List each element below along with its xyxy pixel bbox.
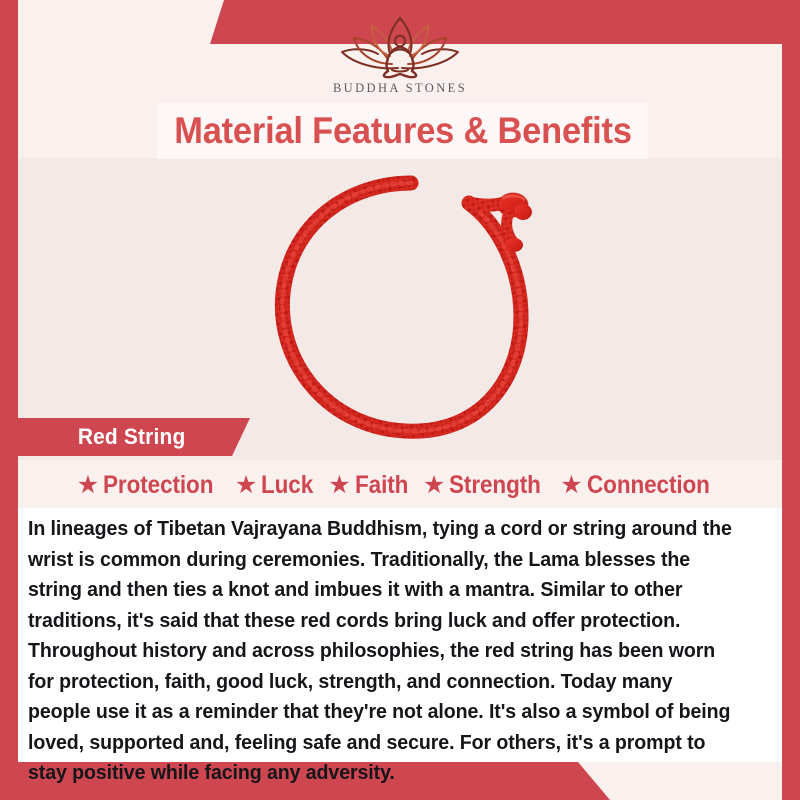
- star-icon: ★: [235, 473, 257, 498]
- right-red-border: [782, 0, 800, 800]
- brand-wordmark: BUDDHA STONES: [333, 81, 467, 96]
- benefit-label: Protection: [103, 471, 213, 500]
- benefit-label: Connection: [587, 471, 710, 500]
- benefit-item: ★ Strength: [423, 471, 551, 500]
- product-label: Red String: [78, 424, 186, 450]
- benefit-item: ★ Luck: [235, 471, 319, 500]
- description-text: In lineages of Tibetan Vajrayana Buddhis…: [28, 514, 739, 789]
- infographic-page: BUDDHA STONES Material Features & Benefi…: [0, 0, 800, 800]
- star-icon: ★: [328, 473, 350, 498]
- benefit-item: ★ Protection: [77, 471, 226, 500]
- benefit-label: Strength: [449, 471, 541, 500]
- star-icon: ★: [423, 473, 445, 498]
- page-title: Material Features & Benefits: [174, 110, 632, 152]
- benefit-item: ★ Connection: [560, 471, 723, 500]
- benefits-row: ★ Protection ★ Luck ★ Faith ★ Strength ★…: [18, 466, 782, 504]
- brand-logo: BUDDHA STONES: [0, 14, 800, 102]
- benefit-label: Faith: [355, 471, 408, 500]
- title-banner: Material Features & Benefits: [157, 103, 648, 159]
- star-icon: ★: [560, 473, 582, 498]
- product-label-banner: Red String: [18, 418, 250, 456]
- lotus-meditation-icon: [334, 14, 466, 80]
- description-panel: In lineages of Tibetan Vajrayana Buddhis…: [18, 508, 782, 762]
- benefit-label: Luck: [261, 471, 313, 500]
- benefit-item: ★ Faith: [328, 471, 414, 500]
- star-icon: ★: [77, 473, 99, 498]
- product-image: [255, 165, 565, 465]
- red-string-bracelet-illustration: [255, 165, 565, 465]
- left-red-border: [0, 0, 18, 800]
